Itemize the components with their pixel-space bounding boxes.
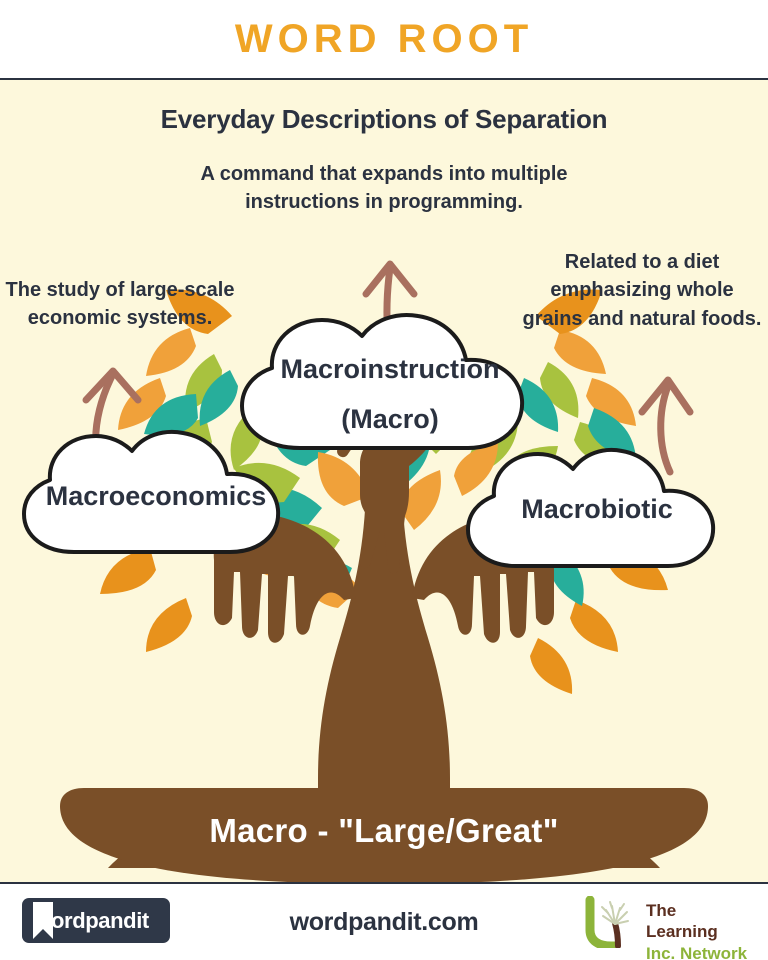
- header-bar: WORD ROOT: [0, 0, 768, 80]
- bookmark-icon: [32, 902, 54, 939]
- cloud-shape: [12, 424, 300, 568]
- footer-bar: wordpandit.com ordpandit The Learning In…: [0, 882, 768, 960]
- partner-line1: The Learning: [646, 900, 752, 943]
- root-word-label: Macro - "Large/Great": [0, 812, 768, 850]
- cloud-macrobiotic[interactable]: Macrobiotic: [456, 442, 738, 582]
- page-title: WORD ROOT: [235, 19, 533, 59]
- cloud-macroeconomics[interactable]: Macroeconomics: [12, 424, 300, 568]
- description-right: Related to a diet emphasizing whole grai…: [518, 248, 766, 333]
- wordpandit-logo[interactable]: ordpandit: [22, 898, 170, 943]
- partner-line2: Inc. Network: [646, 943, 752, 960]
- partner-logo-text: The Learning Inc. Network: [646, 900, 752, 960]
- description-top: A command that expands into multiple ins…: [194, 160, 574, 217]
- cloud-shape: [456, 442, 738, 582]
- infographic-page: WORD ROOT Everyday Descriptions of Separ…: [0, 0, 768, 960]
- wordpandit-logo-text: ordpandit: [51, 908, 149, 934]
- tree-in-u-icon: [584, 896, 642, 948]
- description-left: The study of large-scale economic system…: [2, 276, 238, 333]
- the-learning-inc-network-logo[interactable]: The Learning Inc. Network: [584, 896, 752, 948]
